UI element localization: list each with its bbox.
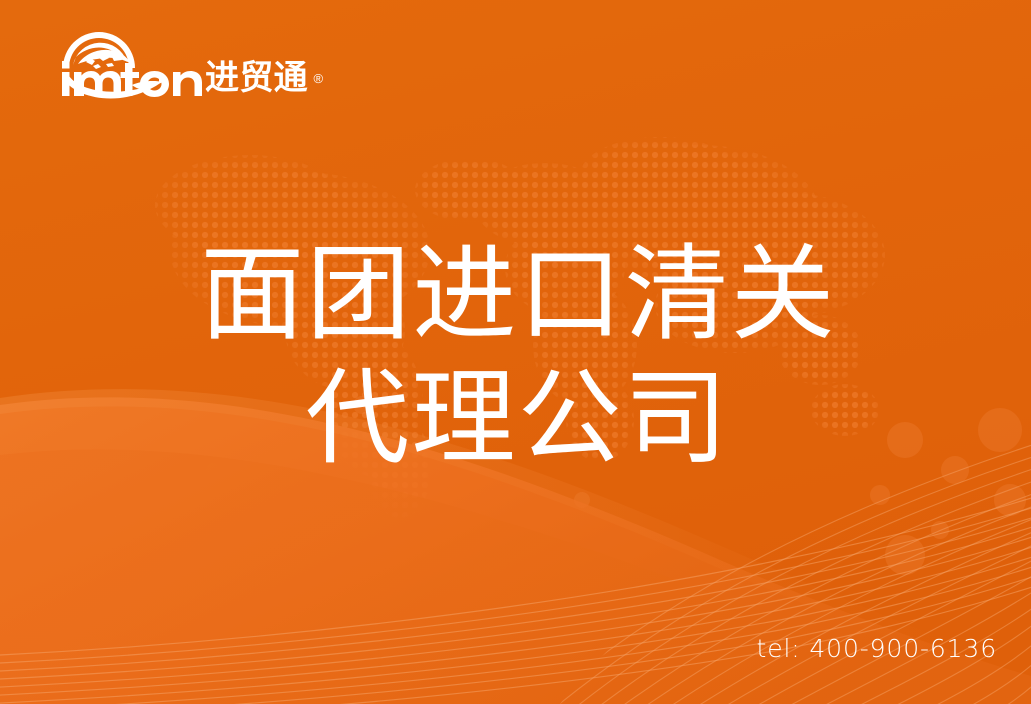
headline-line-1: 面团进口清关 [6,232,1031,356]
logo-chinese-wordmark: 进贸通 ® [205,58,323,104]
imton-logo-mark [34,26,209,104]
contact-phone[interactable]: tel: 400-900-6136 [757,634,997,664]
headline-line-2: 代理公司 [4,356,1031,480]
logo-chinese-text: 进贸通 [205,58,308,98]
brand-logo[interactable]: 进贸通 ® [34,26,323,104]
promo-banner: 进贸通 ® 面团进口清关 代理公司 tel: 400-900-6136 [0,0,1031,704]
headline: 面团进口清关 代理公司 [0,232,1031,480]
registered-trademark-icon: ® [313,71,323,86]
